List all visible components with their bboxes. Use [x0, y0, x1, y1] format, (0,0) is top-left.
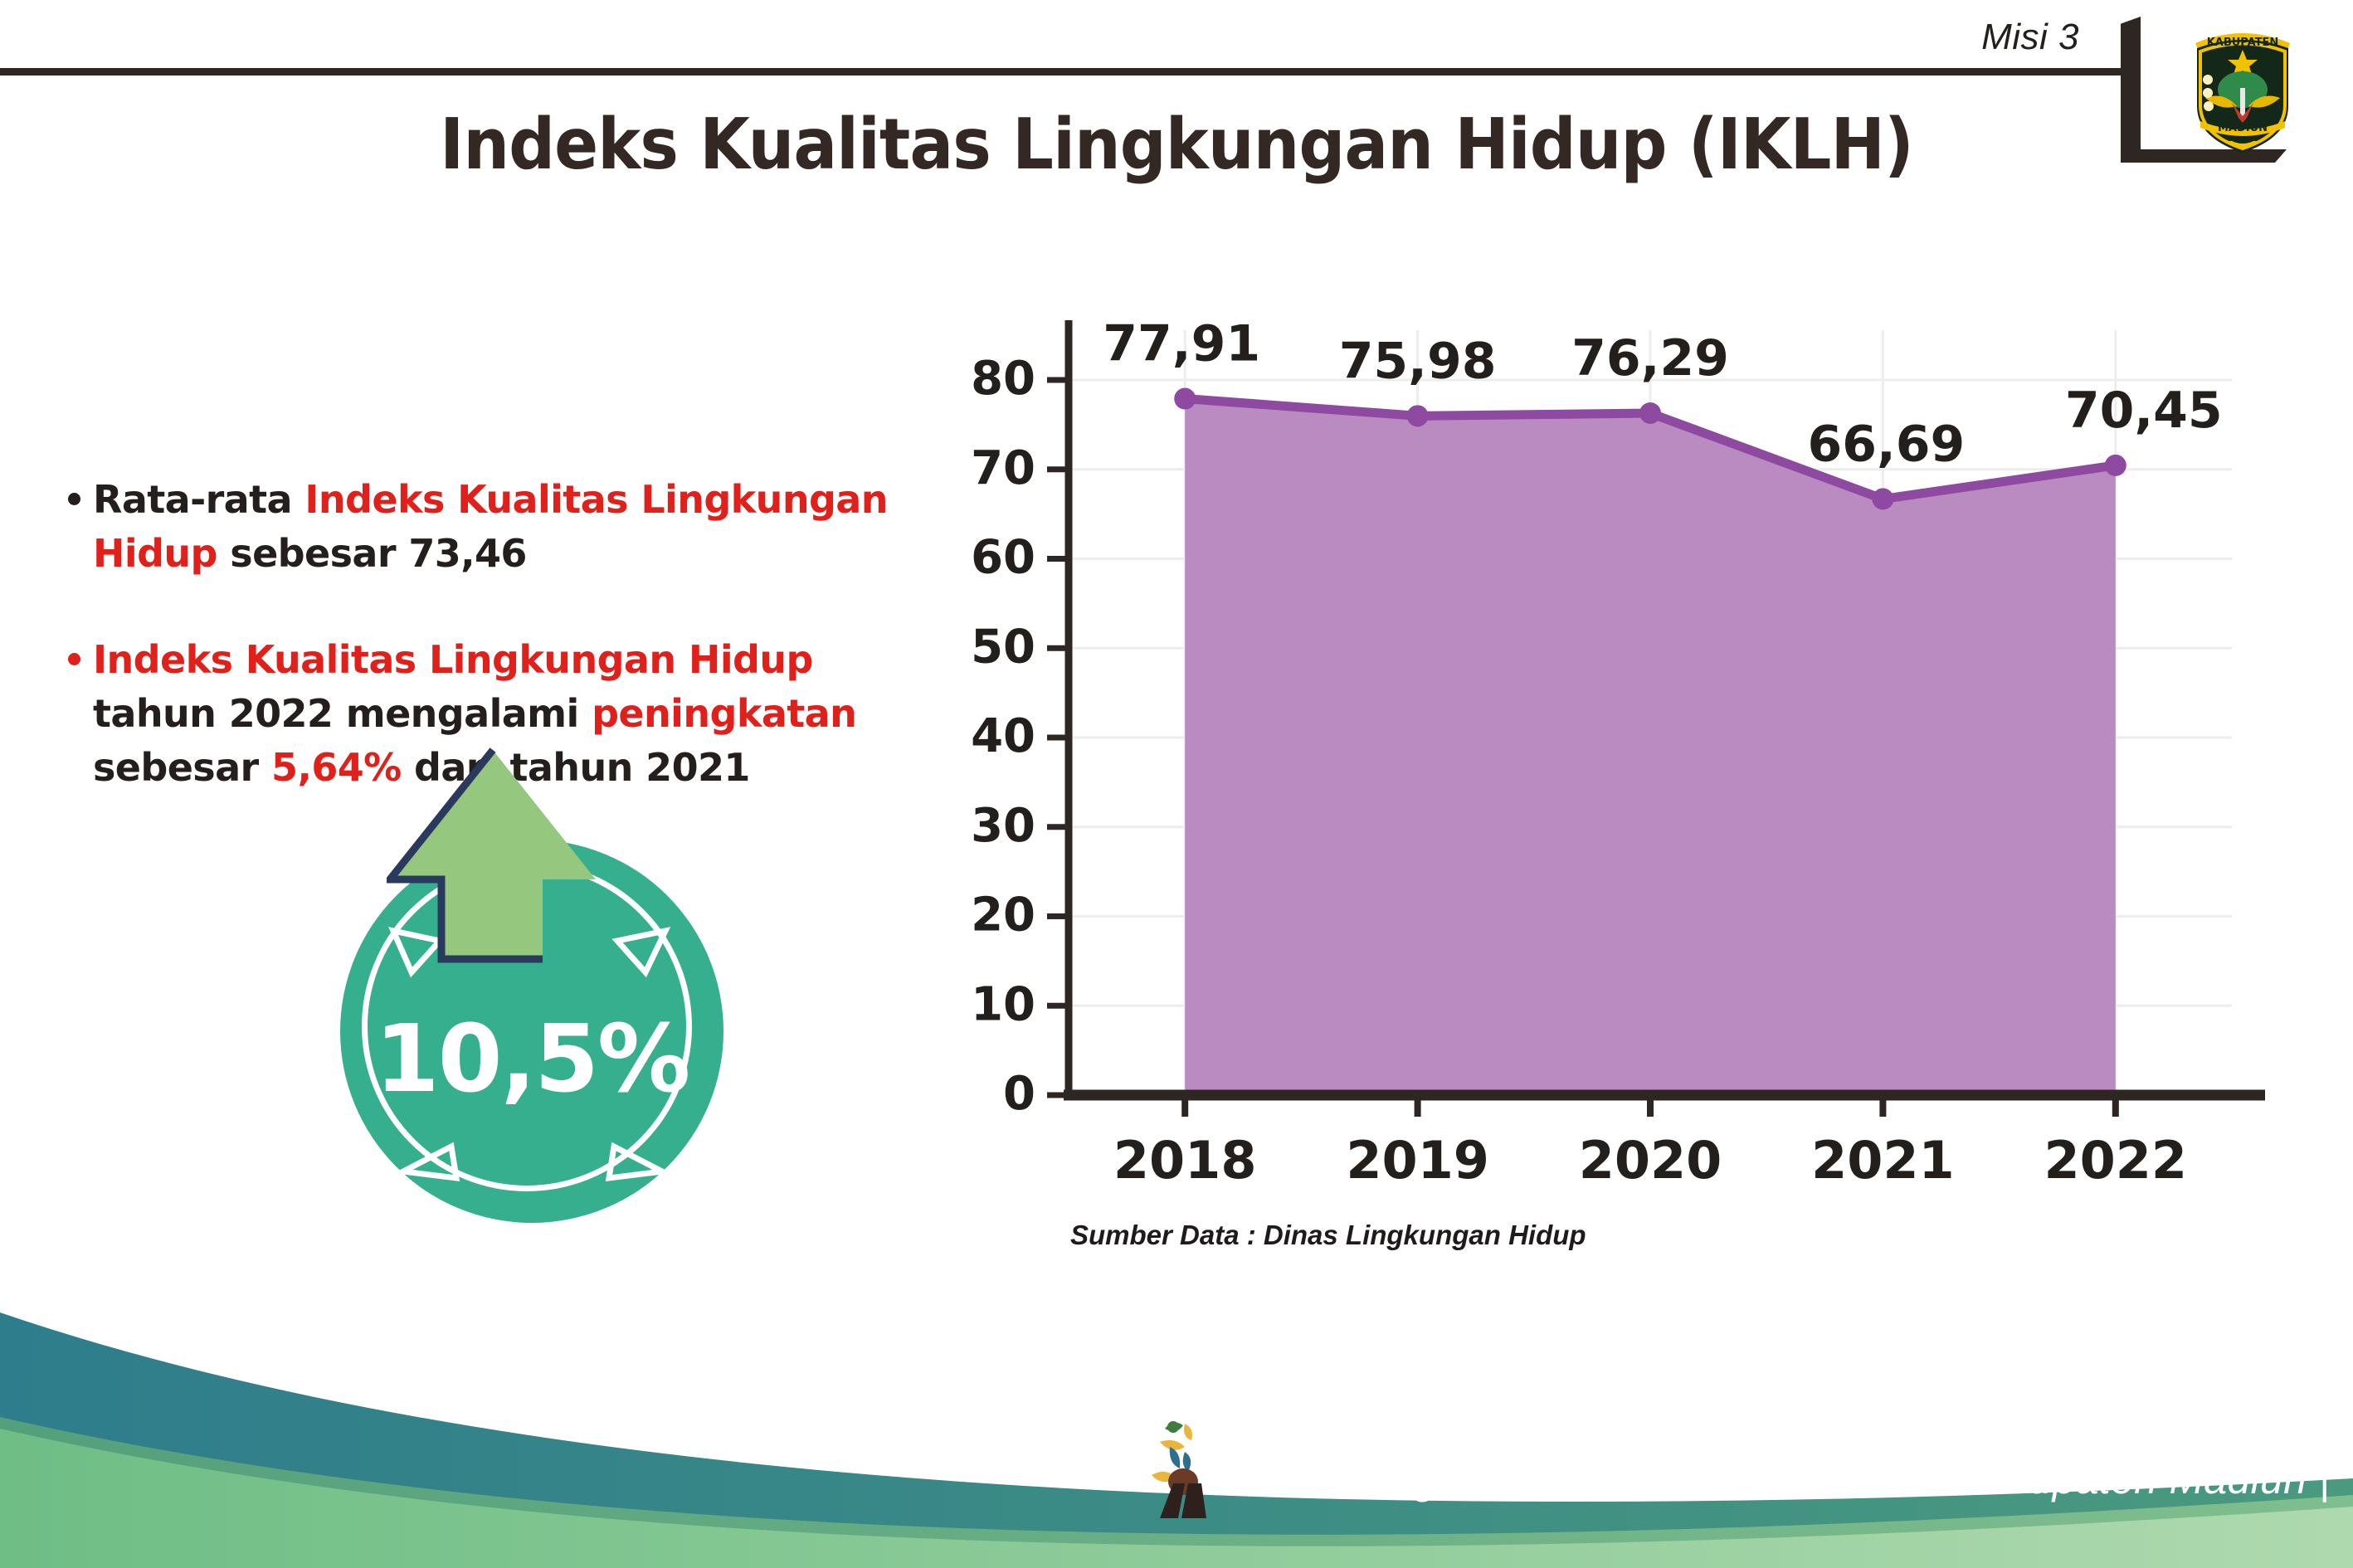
svg-text:2022: 2022	[2044, 1130, 2188, 1191]
svg-text:80: 80	[971, 352, 1035, 406]
bullet-increase-seg-1: tahun 2022 mengalami	[93, 691, 592, 736]
svg-text:70,45: 70,45	[2065, 382, 2223, 440]
svg-text:2020: 2020	[1579, 1130, 1722, 1191]
footer-wave: Media Infografis Data Statistik Sektoral…	[0, 1294, 2353, 1568]
bullet-increase-seg-0: Indeks Kualitas Lingkungan Hidup	[93, 637, 813, 682]
page-title: Indeks Kualitas Lingkungan Hidup (IKLH)	[94, 104, 2258, 186]
svg-text:2019: 2019	[1346, 1130, 1489, 1191]
growth-badge: 10,5%	[314, 747, 787, 1220]
badge-percentage: 10,5%	[340, 1006, 723, 1113]
infographic-slide: Misi 3 KABUPATEN MADIUN Indeks Kualitas …	[0, 0, 2353, 1568]
bullet-average: Rata-rata Indeks Kualitas Lingkungan Hid…	[65, 473, 944, 582]
bullet-average-seg-2: sebesar 73,46	[217, 531, 527, 576]
header-rule	[0, 68, 2121, 75]
svg-text:30: 30	[971, 799, 1035, 853]
svg-text:66,69: 66,69	[1808, 415, 1966, 473]
bullet-increase-seg-2: peningkatan	[592, 691, 856, 736]
svg-text:2021: 2021	[1811, 1130, 1955, 1191]
svg-text:76,29: 76,29	[1571, 329, 1729, 387]
dancer-logo-icon	[1137, 1414, 1228, 1520]
svg-text:10: 10	[971, 977, 1035, 1031]
svg-text:77,91: 77,91	[1103, 315, 1260, 373]
svg-text:KABUPATEN: KABUPATEN	[2207, 37, 2279, 49]
iklh-area-chart: 010203040506070802018201920202021202277,…	[971, 299, 2265, 1195]
svg-text:50: 50	[971, 620, 1035, 674]
svg-text:40: 40	[971, 709, 1035, 763]
arrow-up-icon	[387, 747, 602, 979]
chart-source-note: Sumber Data : Dinas Lingkungan Hidup	[1070, 1220, 1586, 1251]
svg-text:75,98: 75,98	[1339, 332, 1497, 390]
svg-text:20: 20	[971, 889, 1035, 942]
mission-label: Misi 3	[1981, 17, 2079, 58]
bullet-average-seg-0: Rata-rata	[93, 477, 304, 522]
svg-text:0: 0	[1003, 1067, 1035, 1121]
svg-text:60: 60	[971, 531, 1035, 585]
svg-text:70: 70	[971, 441, 1035, 495]
footer-caption: Media Infografis Data Statistik Sektoral…	[1218, 1455, 2330, 1503]
bullet-increase-seg-3: sebesar	[93, 745, 271, 790]
svg-text:2018: 2018	[1113, 1130, 1257, 1191]
